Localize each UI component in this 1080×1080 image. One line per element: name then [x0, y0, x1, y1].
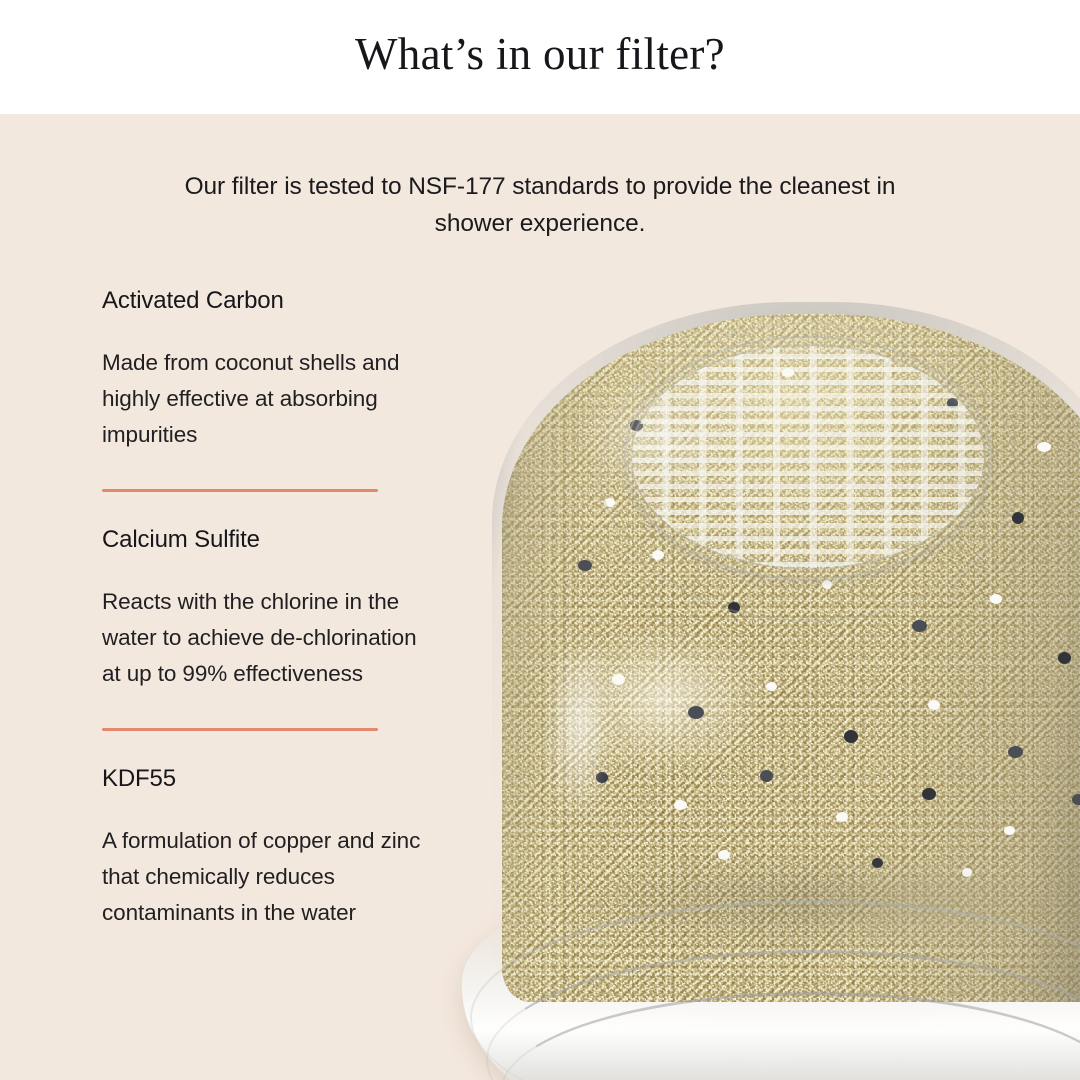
- flange-ring-lower: [500, 992, 1080, 1080]
- media-base-shadow: [512, 842, 1080, 962]
- cartridge-base-flange: [462, 862, 1080, 1080]
- granule-speck: [1012, 512, 1024, 524]
- granule-speck: [630, 420, 643, 431]
- granule-speck: [962, 868, 972, 877]
- cartridge-clear-shell: [492, 302, 1080, 1002]
- intro-paragraph: Our filter is tested to NSF-177 standard…: [180, 168, 900, 242]
- ingredient-heading: Calcium Sulfite: [102, 525, 462, 555]
- ingredient-section-calcium-sulfite: Calcium Sulfite Reacts with the chlorine…: [102, 525, 462, 692]
- ingredient-section-activated-carbon: Activated Carbon Made from coconut shell…: [102, 286, 462, 453]
- granule-speck: [782, 368, 794, 377]
- mesh-outer-ring: [600, 322, 1018, 622]
- granule-speck: [728, 602, 740, 613]
- granule-speck: [1058, 652, 1071, 664]
- page-title: What’s in our filter?: [355, 32, 725, 83]
- granule-speck: [674, 800, 687, 810]
- ingredient-heading: KDF55: [102, 764, 462, 794]
- granule-speck: [766, 682, 777, 691]
- granule-speck: [928, 700, 940, 710]
- granule-speck: [578, 560, 592, 571]
- granule-speck: [1072, 794, 1080, 805]
- ingredient-list: Activated Carbon Made from coconut shell…: [102, 286, 462, 931]
- mesh-horizontal-lines: [632, 346, 984, 568]
- section-divider: [102, 489, 378, 492]
- granule-speck: [1008, 746, 1023, 758]
- granule-speck: [604, 498, 615, 507]
- granule-speck: [844, 730, 858, 743]
- mesh-vertical-lines: [632, 346, 984, 568]
- infographic-page: What’s in our filter? Our filter is test…: [0, 0, 1080, 1080]
- granule-speck: [1037, 442, 1051, 452]
- granule-speck: [872, 858, 883, 868]
- shell-left-highlight: [538, 602, 620, 852]
- ingredient-description: Reacts with the chlorine in the water to…: [102, 584, 432, 692]
- mesh-screen: [632, 346, 984, 568]
- granule-speck: [760, 770, 773, 782]
- section-divider: [102, 728, 378, 731]
- shell-top-highlight: [552, 362, 752, 512]
- header-band: What’s in our filter?: [0, 0, 1080, 114]
- granule-speck: [836, 812, 848, 822]
- granule-speck: [612, 674, 625, 685]
- body-band: Our filter is tested to NSF-177 standard…: [0, 114, 1080, 1080]
- ingredient-section-kdf55: KDF55 A formulation of copper and zinc t…: [102, 764, 462, 931]
- granule-speck: [1004, 826, 1015, 835]
- ingredient-description: Made from coconut shells and highly effe…: [102, 345, 432, 453]
- granule-speck: [922, 788, 936, 800]
- flange-ring-upper: [470, 900, 1080, 1080]
- granule-speck: [688, 706, 704, 719]
- ingredient-heading: Activated Carbon: [102, 286, 462, 316]
- filter-media-granules: [502, 314, 1080, 1002]
- granule-speck: [990, 594, 1002, 604]
- ingredient-description: A formulation of copper and zinc that ch…: [102, 823, 432, 931]
- filter-cartridge: [492, 302, 1080, 1042]
- granule-speck: [912, 620, 927, 632]
- mesh-ring: [624, 336, 992, 580]
- granule-speck: [947, 398, 958, 408]
- granule-speck: [652, 550, 664, 560]
- granule-speck: [596, 772, 608, 783]
- flange-ring-middle: [486, 950, 1080, 1080]
- granule-speck: [822, 580, 832, 589]
- granule-speck: [718, 850, 730, 860]
- product-drop-shadow: [430, 814, 1080, 1054]
